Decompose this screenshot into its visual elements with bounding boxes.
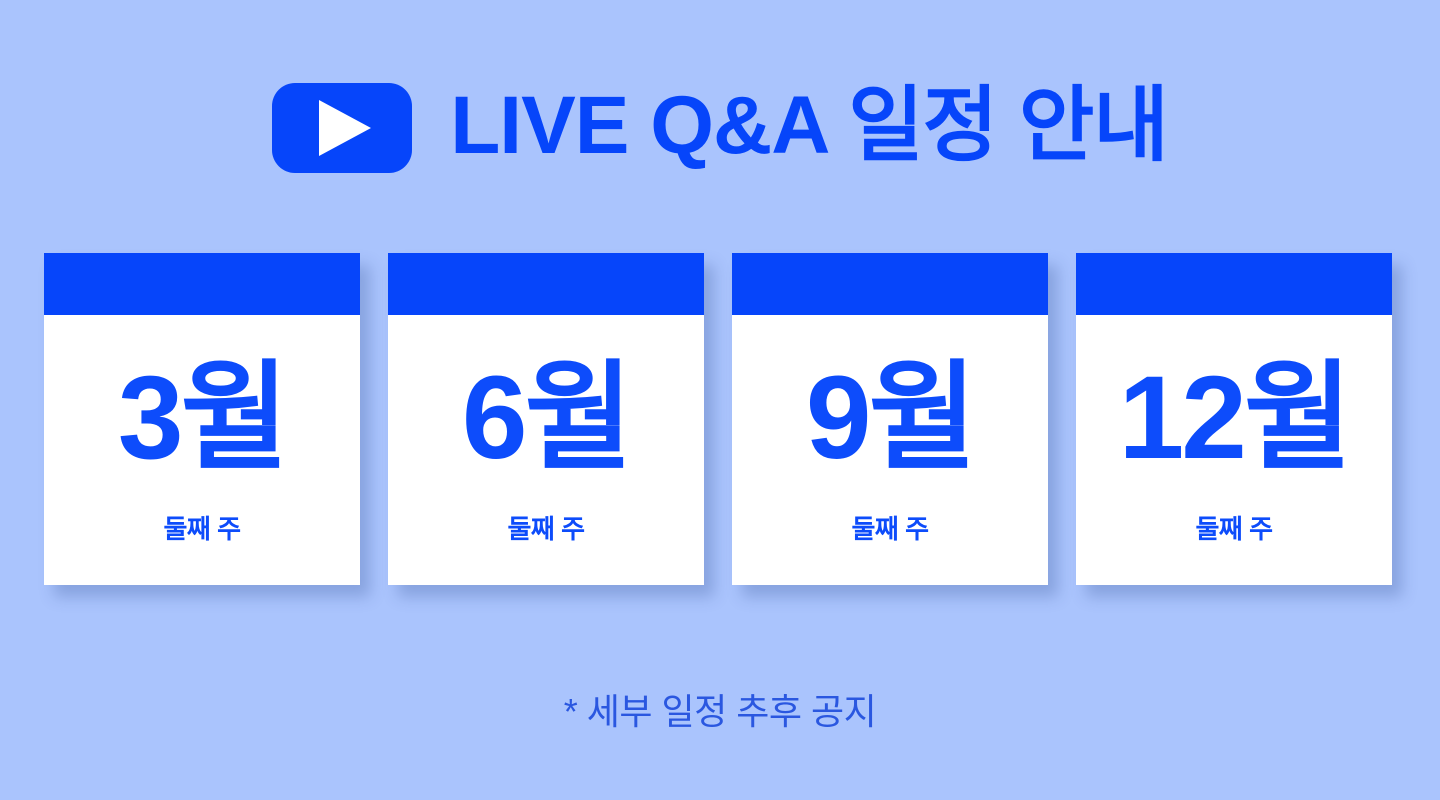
schedule-card-list: 3월 둘째 주 6월 둘째 주 9월 둘째 주 12월 둘째 주 — [44, 253, 1396, 585]
card-week-label: 둘째 주 — [164, 509, 241, 546]
card-week-label: 둘째 주 — [852, 509, 929, 546]
card-month-label: 6월 — [462, 359, 630, 477]
calendar-header-bar — [44, 253, 360, 315]
card-body: 9월 둘째 주 — [732, 315, 1048, 585]
calendar-header-bar — [1076, 253, 1392, 315]
header: LIVE Q&A 일정 안내 — [0, 76, 1440, 180]
card-month-label: 3월 — [118, 359, 286, 477]
footnote-text: * 세부 일정 추후 공지 — [0, 683, 1440, 735]
card-week-label: 둘째 주 — [508, 509, 585, 546]
card-body: 12월 둘째 주 — [1076, 315, 1392, 585]
schedule-card[interactable]: 9월 둘째 주 — [732, 253, 1048, 585]
calendar-header-bar — [732, 253, 1048, 315]
card-body: 3월 둘째 주 — [44, 315, 360, 585]
schedule-card[interactable]: 12월 둘째 주 — [1076, 253, 1392, 585]
calendar-header-bar — [388, 253, 704, 315]
schedule-card[interactable]: 6월 둘째 주 — [388, 253, 704, 585]
page-title: LIVE Q&A 일정 안내 — [450, 85, 1168, 167]
card-month-label: 12월 — [1119, 359, 1350, 477]
card-month-label: 9월 — [806, 359, 974, 477]
card-week-label: 둘째 주 — [1196, 509, 1273, 546]
play-button-icon[interactable] — [272, 83, 412, 173]
card-body: 6월 둘째 주 — [388, 315, 704, 585]
schedule-card[interactable]: 3월 둘째 주 — [44, 253, 360, 585]
